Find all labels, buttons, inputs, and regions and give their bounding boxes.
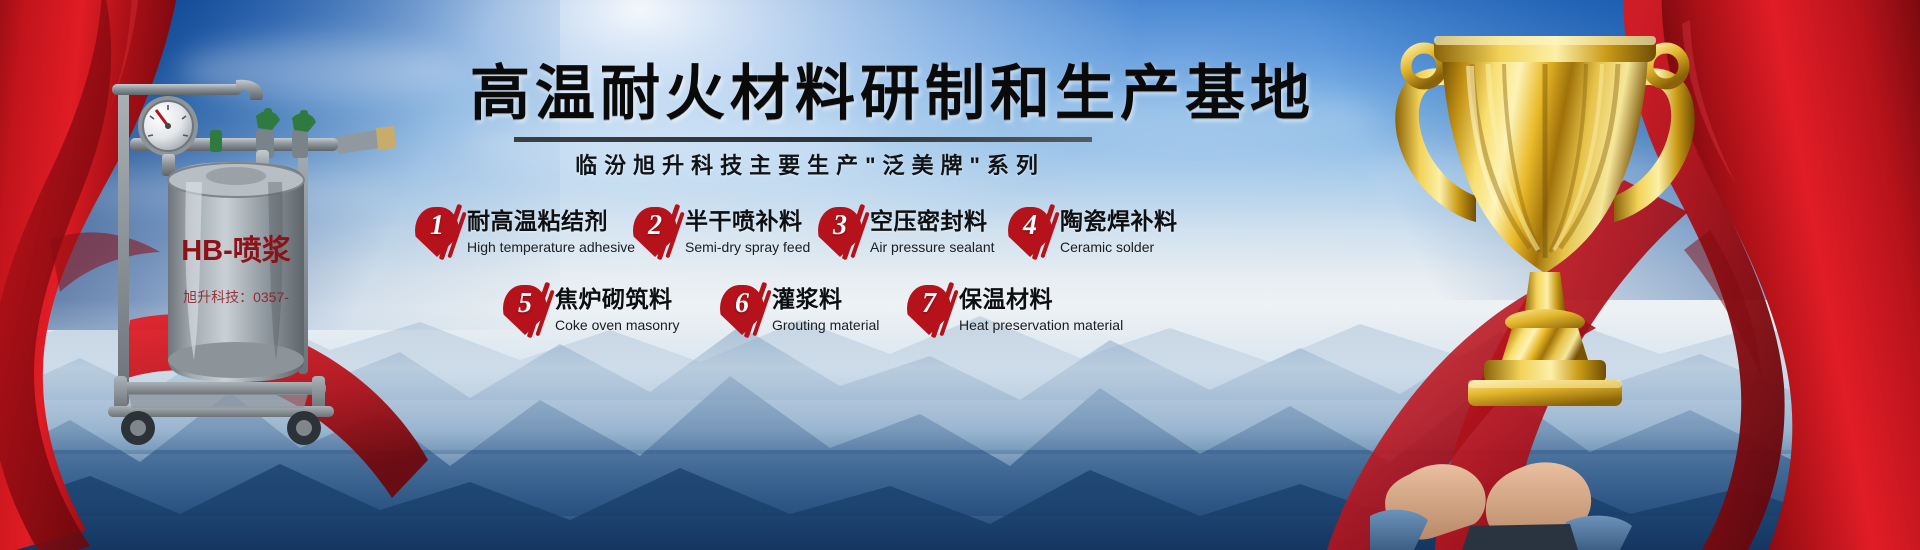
number-badge-icon: 1 [415,207,461,261]
feature-label-cn: 半干喷补料 [685,208,810,234]
number-badge-icon: 7 [907,285,953,339]
feature-label-cn: 保温材料 [959,286,1123,312]
feature-item-3[interactable]: 3 空压密封料 Air pressure sealant [818,207,995,261]
promotional-banner: HB-喷浆 旭升科技：0357- 高温耐火材料研制和生产基地 临汾旭升科技主要生… [0,0,1920,550]
feature-item-6[interactable]: 6 灌浆料 Grouting material [720,285,879,339]
feature-label-en: Semi-dry spray feed [685,239,810,255]
number-badge-icon: 2 [633,207,679,261]
feature-label-en: Ceramic solder [1060,239,1178,255]
number-badge-icon: 3 [818,207,864,261]
feature-label-en: Heat preservation material [959,317,1123,333]
feature-label-cn: 灌浆料 [772,286,879,312]
feature-list: 1 耐高温粘结剂 High temperature adhesive 2 半干喷… [0,0,1920,550]
number-badge-icon: 6 [720,285,766,339]
feature-label-cn: 空压密封料 [870,208,995,234]
number-badge-icon: 5 [503,285,549,339]
feature-label-en: Air pressure sealant [870,239,995,255]
feature-item-2[interactable]: 2 半干喷补料 Semi-dry spray feed [633,207,810,261]
number-badge-icon: 4 [1008,207,1054,261]
banner-text-content: 高温耐火材料研制和生产基地 临汾旭升科技主要生产"泛美牌"系列 1 耐高温粘结剂… [0,0,1920,550]
feature-label-en: High temperature adhesive [467,239,635,255]
feature-label-en: Coke oven masonry [555,317,680,333]
feature-item-1[interactable]: 1 耐高温粘结剂 High temperature adhesive [415,207,635,261]
feature-label-cn: 耐高温粘结剂 [467,208,635,234]
feature-item-7[interactable]: 7 保温材料 Heat preservation material [907,285,1123,339]
feature-label-en: Grouting material [772,317,879,333]
feature-label-cn: 陶瓷焊补料 [1060,208,1178,234]
feature-label-cn: 焦炉砌筑料 [555,286,680,312]
feature-item-4[interactable]: 4 陶瓷焊补料 Ceramic solder [1008,207,1178,261]
feature-item-5[interactable]: 5 焦炉砌筑料 Coke oven masonry [503,285,680,339]
